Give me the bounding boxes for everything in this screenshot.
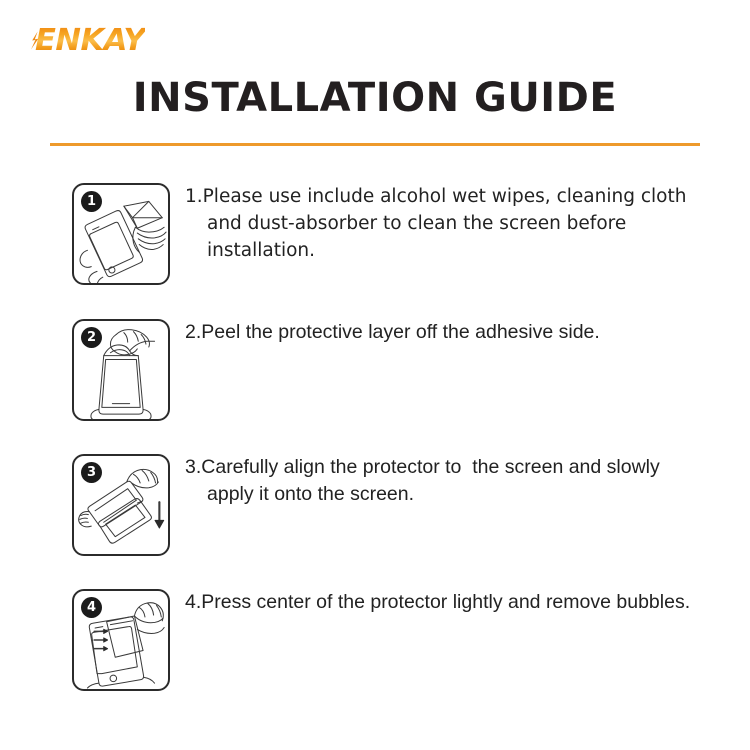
brand-logo: ENKAY: [30, 22, 143, 60]
steps-list: 1: [0, 175, 750, 716]
step-text-3: 3.Carefully align the protector to the s…: [185, 446, 695, 508]
step-illustration-2: 2: [72, 319, 170, 421]
step-text-4: 4.Press center of the protector lightly …: [185, 581, 695, 616]
list-item: 4: [0, 581, 750, 716]
step-description: 2.Peel the protective layer off the adhe…: [185, 319, 695, 346]
header-divider: [50, 143, 700, 146]
step-description: 1.Please use include alcohol wet wipes, …: [185, 183, 695, 264]
step-text-1: 1.Please use include alcohol wet wipes, …: [185, 175, 695, 264]
list-item: 2: [0, 311, 750, 446]
step-illustration-1: 1: [72, 183, 170, 285]
brand-name: ENKAY: [35, 26, 145, 56]
step-text-2: 2.Peel the protective layer off the adhe…: [185, 311, 695, 346]
page-title: INSTALLATION GUIDE: [0, 76, 750, 120]
step-number-badge: 2: [81, 327, 102, 348]
step-description: 3.Carefully align the protector to the s…: [185, 454, 695, 508]
step-number-badge: 1: [81, 191, 102, 212]
installation-guide-page: ENKAY INSTALLATION GUIDE 1: [0, 0, 750, 750]
step-number-badge: 3: [81, 462, 102, 483]
step-illustration-3: 3: [72, 454, 170, 556]
step-number-badge: 4: [81, 597, 102, 618]
step-description: 4.Press center of the protector lightly …: [185, 589, 695, 616]
step-illustration-4: 4: [72, 589, 170, 691]
list-item: 3: [0, 446, 750, 581]
list-item: 1: [0, 175, 750, 311]
